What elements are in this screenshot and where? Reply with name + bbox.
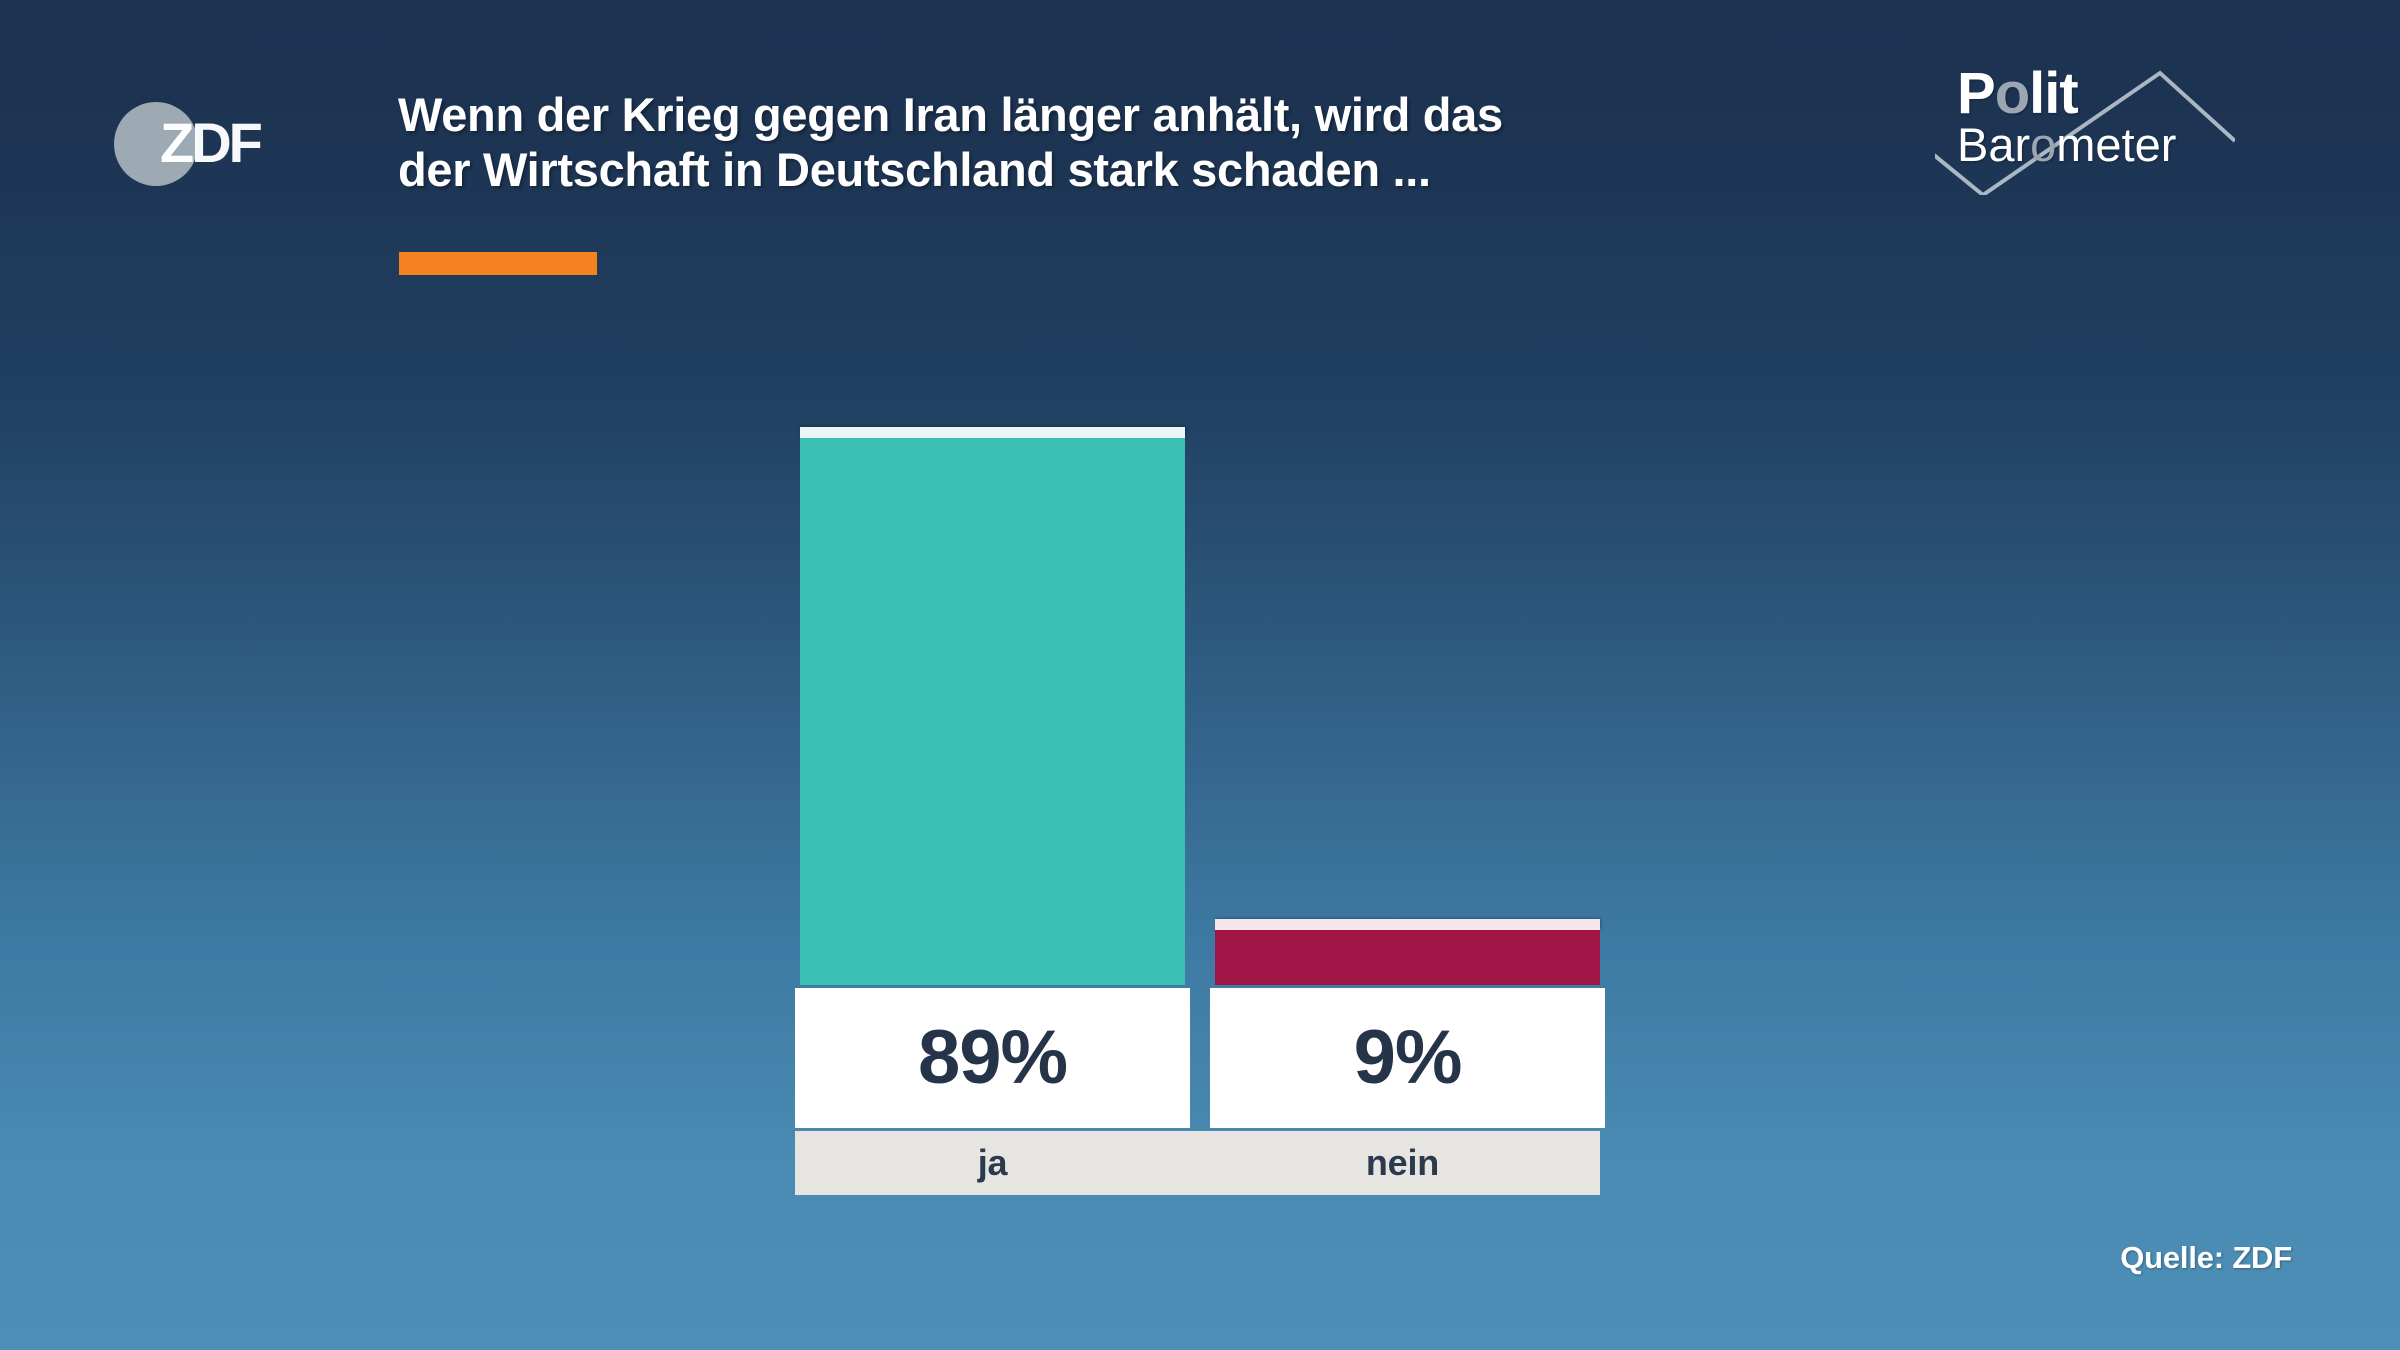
page-title-line-2: der Wirtschaft in Deutschland stark scha… <box>398 143 1818 198</box>
zdf-logo: ZDF <box>112 98 292 190</box>
politbarometer-infographic: ZDF Wenn der Krieg gegen Iran länger anh… <box>0 0 2400 1350</box>
pb-p: P <box>1957 61 1995 126</box>
category-label-nein: nein <box>1205 1131 1600 1195</box>
pb-meter: meter <box>2056 118 2176 171</box>
pb-o-2: o <box>2030 118 2056 171</box>
title-accent-bar <box>399 252 597 275</box>
page-title: Wenn der Krieg gegen Iran länger anhält,… <box>398 88 1818 197</box>
politbarometer-logo: Polit Barometer <box>1935 55 2235 195</box>
value-label-nein: 9% <box>1354 1020 1462 1096</box>
bar-ja <box>800 427 1185 985</box>
bar-ja-cap <box>800 427 1185 438</box>
pb-lit: lit <box>2029 61 2078 126</box>
source-attribution: Quelle: ZDF <box>2120 1240 2292 1276</box>
bar-nein-cap <box>1215 919 1600 930</box>
zdf-wordmark: ZDF <box>160 115 260 171</box>
politbarometer-logo-barometer: Barometer <box>1957 121 2176 168</box>
zdf-letter-z: Z <box>160 111 191 174</box>
value-box-nein: 9% <box>1210 988 1605 1128</box>
politbarometer-logo-polit: Polit <box>1957 65 2078 123</box>
bar-nein-body <box>1215 930 1600 985</box>
bar-ja-body <box>800 438 1185 985</box>
zdf-letters-df: DF <box>191 111 260 174</box>
pb-o-1: o <box>1995 61 2029 126</box>
category-label-band: ja nein <box>795 1131 1600 1195</box>
value-box-ja: 89% <box>795 988 1190 1128</box>
value-label-ja: 89% <box>918 1020 1067 1096</box>
bar-chart: 89% 9% ja nein <box>800 370 1600 1195</box>
pb-bar: Bar <box>1957 118 2030 171</box>
page-title-line-1: Wenn der Krieg gegen Iran länger anhält,… <box>398 88 1818 143</box>
category-label-ja: ja <box>795 1131 1190 1195</box>
bar-nein <box>1215 919 1600 985</box>
